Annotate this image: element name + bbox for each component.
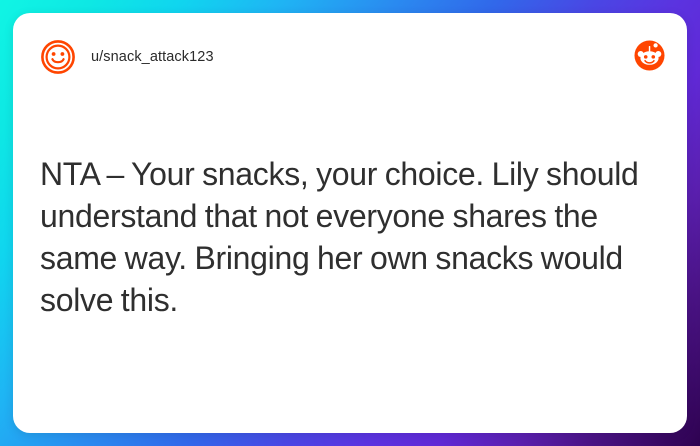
post-body-text: NTA – Your snacks, your choice. Lily sho… [40, 153, 657, 321]
reddit-comment-card: u/snack_attack123 [13, 13, 687, 433]
reddit-snoo-icon [634, 40, 665, 71]
gradient-backdrop: u/snack_attack123 [0, 0, 700, 446]
smiley-face-avatar-icon [40, 39, 76, 75]
card-header: u/snack_attack123 [13, 32, 687, 82]
username-label: u/snack_attack123 [91, 49, 214, 65]
